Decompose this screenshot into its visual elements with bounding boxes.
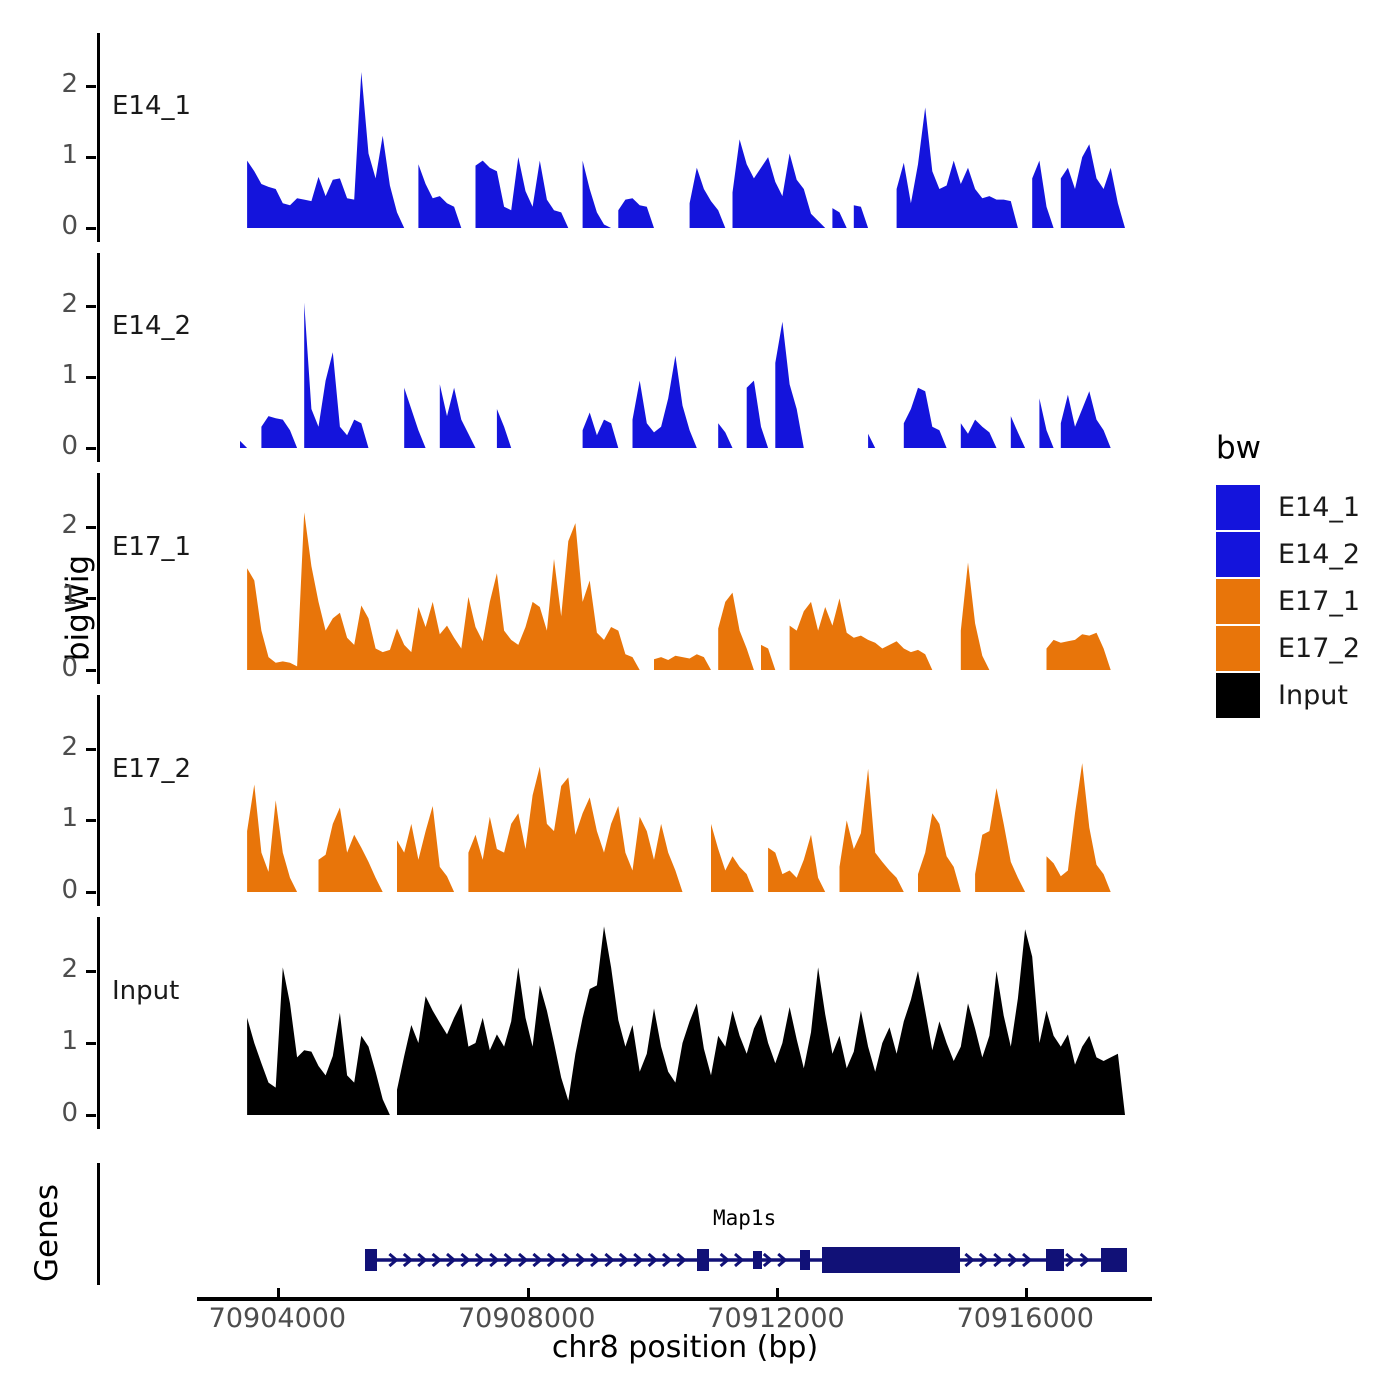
x-tick-label: 70916000 bbox=[957, 1303, 1094, 1334]
x-tick bbox=[277, 1288, 280, 1298]
legend-swatch-icon bbox=[1216, 532, 1260, 577]
x-axis-line bbox=[197, 1297, 1152, 1301]
legend-swatch-icon bbox=[1216, 579, 1260, 624]
x-tick bbox=[1025, 1288, 1028, 1298]
gene-exon[interactable] bbox=[697, 1249, 709, 1271]
legend-item-e17_1[interactable]: E17_1 bbox=[1216, 578, 1360, 625]
legend-title: bw bbox=[1216, 430, 1360, 466]
gene-exon[interactable] bbox=[1046, 1249, 1064, 1271]
legend-item-label: Input bbox=[1278, 680, 1348, 711]
y-axis-label-genes: Genes bbox=[29, 1148, 65, 1318]
x-tick-label: 70908000 bbox=[458, 1303, 595, 1334]
legend-swatch-icon bbox=[1216, 673, 1260, 718]
x-axis-label: chr8 position (bp) bbox=[240, 1330, 1130, 1365]
signal-area-e17_1 bbox=[0, 473, 1200, 676]
legend-item-label: E14_2 bbox=[1278, 539, 1360, 570]
legend-item-e17_2[interactable]: E17_2 bbox=[1216, 625, 1360, 672]
gene-exon[interactable] bbox=[822, 1247, 960, 1273]
legend-item-input[interactable]: Input bbox=[1216, 672, 1360, 719]
x-tick bbox=[776, 1288, 779, 1298]
signal-area-e17_2 bbox=[0, 695, 1200, 898]
gene-exon[interactable] bbox=[1101, 1248, 1127, 1272]
signal-area-e14_2 bbox=[0, 253, 1200, 454]
x-tick bbox=[527, 1288, 530, 1298]
legend-swatch-icon bbox=[1216, 626, 1260, 671]
legend-item-e14_2[interactable]: E14_2 bbox=[1216, 531, 1360, 578]
legend-item-label: E14_1 bbox=[1278, 492, 1360, 523]
signal-area-e14_1 bbox=[0, 33, 1200, 234]
legend-item-label: E17_2 bbox=[1278, 633, 1360, 664]
legend-swatch-icon bbox=[1216, 485, 1260, 530]
legend-items: E14_1E14_2E17_1E17_2Input bbox=[1216, 484, 1360, 719]
gene-exon[interactable] bbox=[753, 1251, 762, 1269]
legend: bw E14_1E14_2E17_1E17_2Input bbox=[1216, 430, 1360, 719]
x-tick-label: 70912000 bbox=[707, 1303, 844, 1334]
legend-item-label: E17_1 bbox=[1278, 586, 1360, 617]
x-tick-label: 70904000 bbox=[209, 1303, 346, 1334]
gene-label: Map1s bbox=[713, 1206, 776, 1230]
gene-exon[interactable] bbox=[800, 1250, 810, 1270]
legend-item-e14_1[interactable]: E14_1 bbox=[1216, 484, 1360, 531]
gene-model[interactable] bbox=[0, 1240, 1200, 1290]
gene-exon[interactable] bbox=[365, 1249, 377, 1271]
signal-area-input bbox=[0, 917, 1200, 1121]
